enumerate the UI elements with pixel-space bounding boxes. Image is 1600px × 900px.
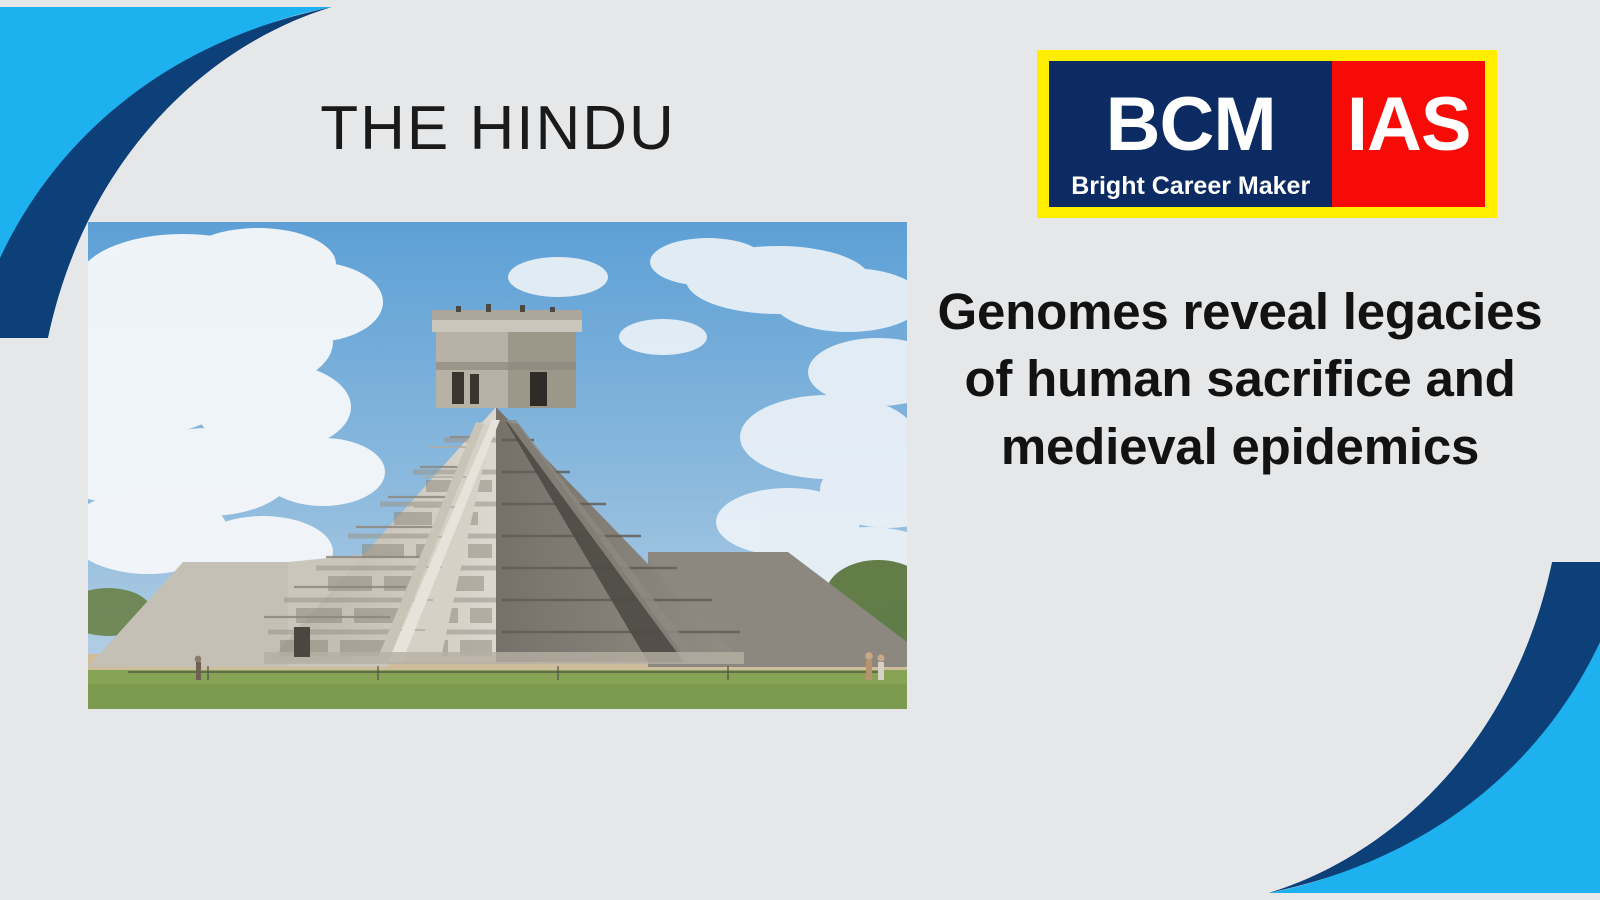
article-photo — [88, 222, 907, 709]
decor-swoosh-bottom-right — [1260, 560, 1600, 900]
logo-suffix-text: IAS — [1347, 87, 1471, 163]
logo-inner: BCM Bright Career Maker IAS — [1049, 61, 1485, 207]
bcm-ias-logo: BCM Bright Career Maker IAS — [1037, 50, 1497, 218]
pyramid-illustration — [88, 222, 907, 709]
logo-tagline-text: Bright Career Maker — [1071, 174, 1310, 199]
logo-brand-text: BCM — [1106, 87, 1276, 163]
swoosh-cyan-shape-2 — [1268, 570, 1600, 893]
swoosh-mask-shape-2 — [1260, 562, 1552, 893]
logo-right-panel: IAS — [1332, 61, 1485, 207]
logo-left-panel: BCM Bright Career Maker — [1049, 61, 1332, 207]
article-headline: Genomes reveal legacies of human sacrifi… — [935, 278, 1545, 480]
source-title: THE HINDU — [88, 98, 908, 160]
slide-canvas: THE HINDU — [0, 0, 1600, 900]
swoosh-navy-shape-2 — [1268, 562, 1600, 893]
